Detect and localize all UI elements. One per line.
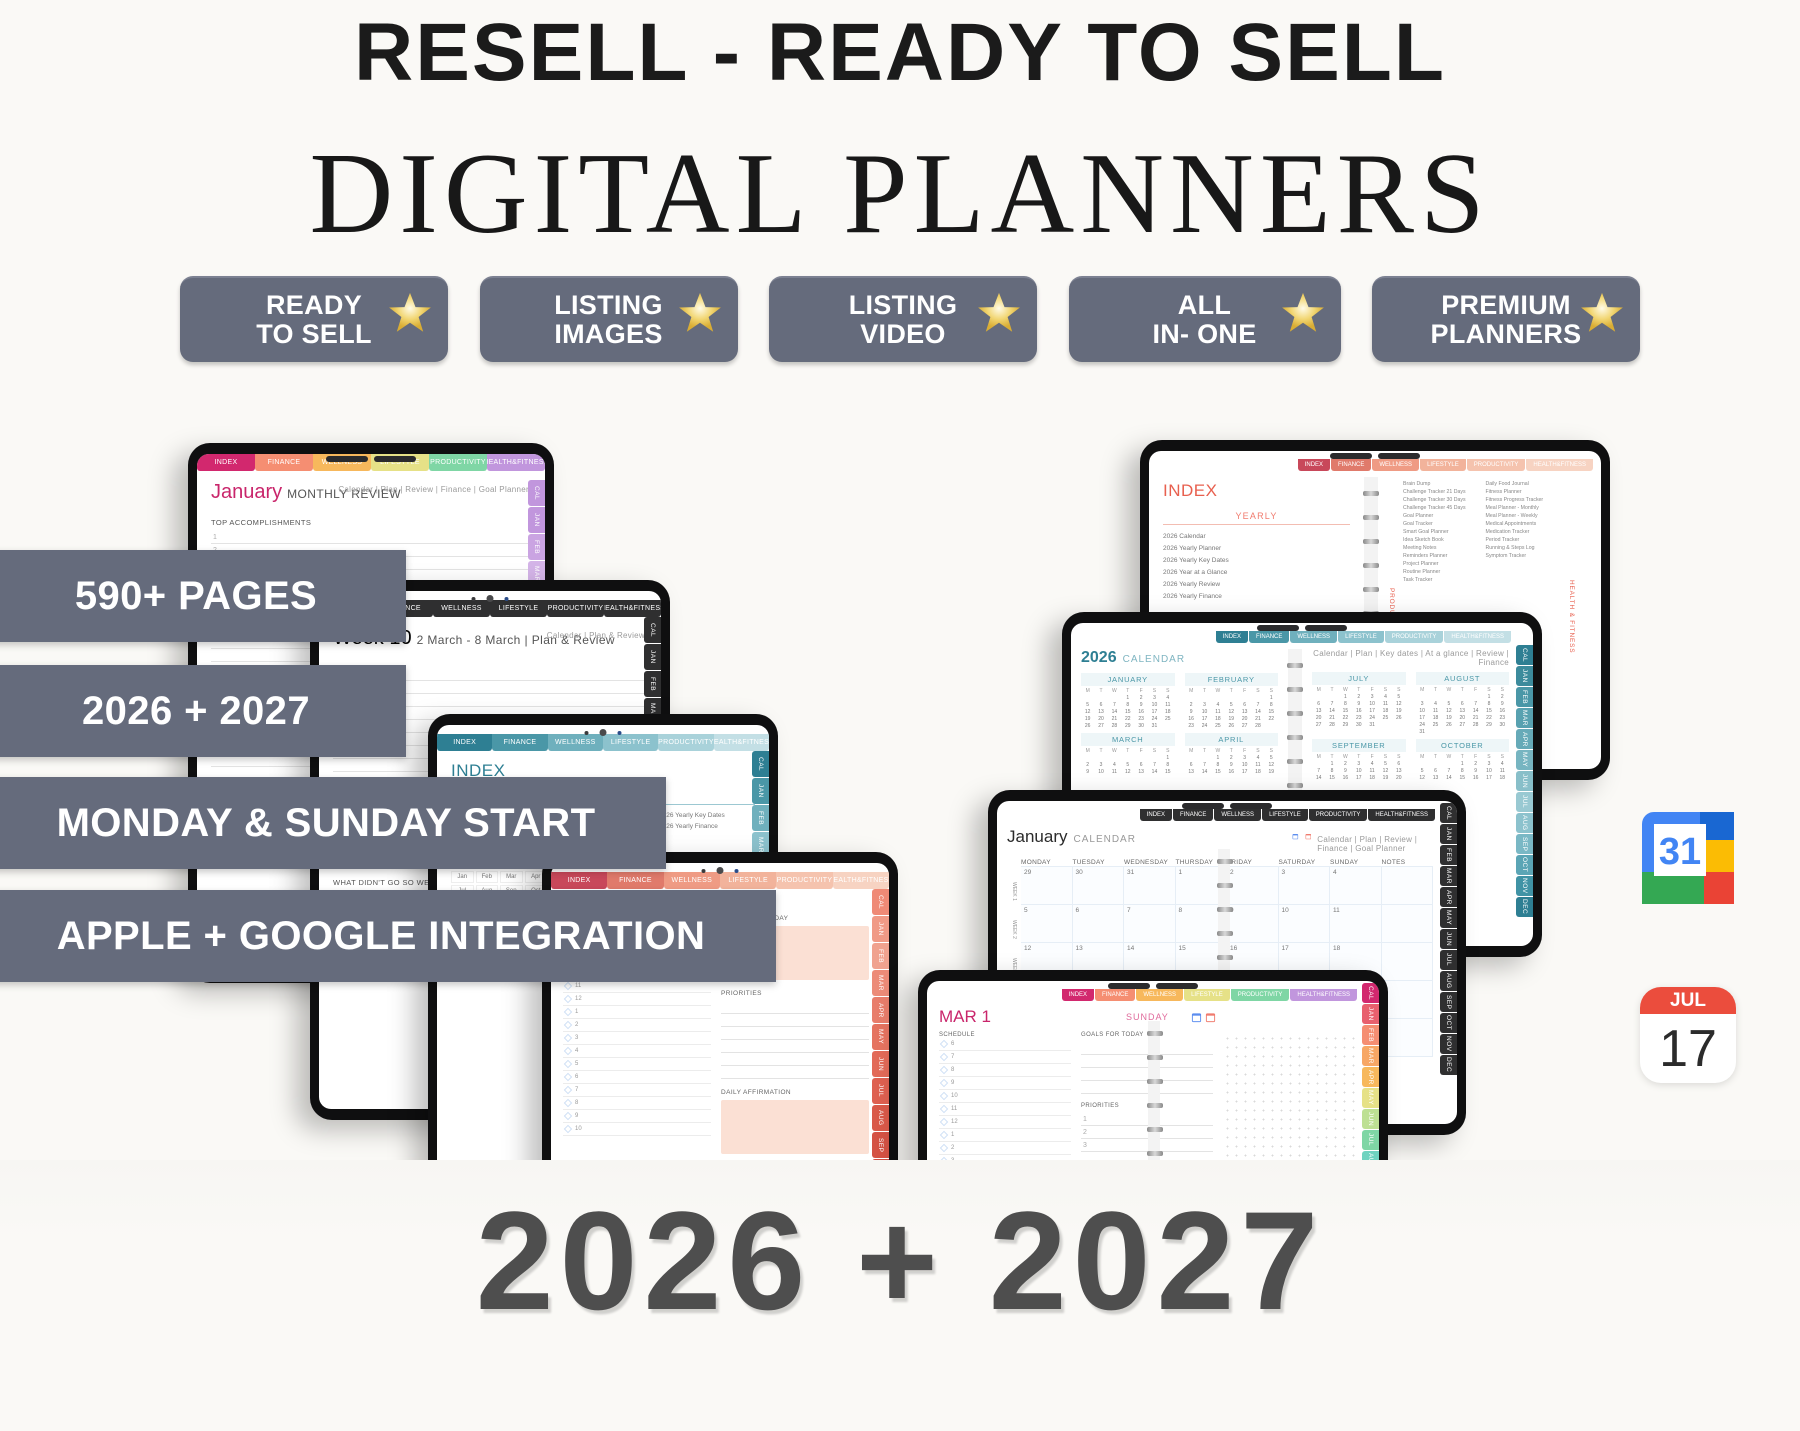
list-item[interactable] [1081,1042,1213,1055]
schedule-row[interactable]: 6 [563,1071,711,1084]
camera-notch [1182,803,1272,809]
index-link[interactable]: 2026 Year at a Glance [1163,569,1350,576]
side-tab-jan[interactable]: JAN [1516,666,1533,686]
index-link[interactable]: Smart Goal Planner [1403,529,1478,535]
divider [1163,524,1350,525]
side-tab-may[interactable]: MAY [872,1024,889,1050]
tab-productivity[interactable]: PRODUCTIVITY [658,734,713,751]
side-tab-feb[interactable]: FEB [752,805,769,831]
notes-cell[interactable] [1382,981,1434,1019]
page-nav[interactable]: Calendar | Plan & Review [547,631,645,640]
google-calendar-glyph: 31 [1640,810,1736,906]
index-link[interactable]: 2026 Yearly Review [1163,581,1350,588]
google-calendar-icon[interactable]: 31 [1640,810,1736,906]
star-icon [388,291,432,335]
month-name: APRIL [1185,733,1279,746]
tab-index[interactable]: INDEX [1140,809,1172,821]
col-header: NOTES [1382,859,1434,866]
tab-index[interactable]: INDEX [551,872,607,889]
list-item[interactable]: 1 [1081,1113,1213,1126]
month-name: SEPTEMBER [1312,739,1406,752]
side-tab-mar[interactable]: MAR [1516,708,1533,728]
tab-finance[interactable]: FINANCE [255,454,313,471]
schedule-row[interactable]: 6 [939,1038,1071,1051]
tab-lifestyle[interactable]: LIFESTYLE [720,872,776,889]
feature-bar-label: 590+ PAGES [75,574,317,619]
tab-productivity[interactable]: PRODUCTIVITY [547,600,604,617]
side-tab-feb[interactable]: FEB [872,943,889,969]
index-link[interactable]: Challenge Tracker 45 Days [1403,505,1478,511]
camera-dots [585,729,622,736]
priorities-list[interactable]: 1 2 3 [1081,1113,1213,1152]
apple-calendar-day: 17 [1640,1014,1736,1083]
side-tab-jan[interactable]: JAN [752,778,769,804]
side-tab-jan[interactable]: JAN [644,644,661,670]
schedule-row[interactable]: 8 [563,1097,711,1110]
index-link[interactable]: 2026 Calendar [1163,533,1350,540]
tab-productivity[interactable]: PRODUCTIVITY [1385,631,1444,643]
day-cell[interactable]: 29 [1021,867,1073,905]
index-link[interactable]: Task Tracker [1403,577,1478,583]
apple-calendar-icon[interactable]: JUL 17 [1640,987,1736,1083]
day-cell[interactable]: 10 [1279,905,1331,943]
tab-productivity[interactable]: PRODUCTIVITY [1309,809,1368,821]
notes-cell[interactable] [1382,905,1434,943]
col-header: MONDAY [1021,859,1073,866]
year-month-block[interactable]: AUGUST MTWTFSS 1234567891011121314151617… [1416,672,1510,735]
badge-label: LISTING VIDEO [849,291,958,348]
camera-notch [326,456,416,462]
tab-wellness[interactable]: WELLNESS [1290,631,1337,643]
index-link[interactable]: Daily Food Journal [1486,481,1561,487]
schedule-row[interactable]: 1 [563,1006,711,1019]
schedule-row[interactable]: 7 [563,1084,711,1097]
index-link[interactable]: 2026 Yearly Finance [1163,593,1350,600]
tab-health-fitness[interactable]: HEALTH&FITNESS [1290,989,1357,1001]
side-tab-jul[interactable]: JUL [1362,1130,1379,1150]
side-tab-mar[interactable]: MAR [872,970,889,996]
month-chip[interactable]: Feb [476,871,499,883]
index-link[interactable]: Project Planner [1403,561,1478,567]
index-link[interactable]: Fitness Progress Tracker [1486,497,1561,503]
side-tab-cal[interactable]: CAL [752,751,769,777]
list-item[interactable]: 3 [1081,1139,1213,1152]
year-month-block[interactable]: OCTOBER MTWTFSS 123456789101112131415161… [1416,739,1510,781]
side-tab-jun[interactable]: JUN [1516,771,1533,791]
side-tab-jul[interactable]: JUL [1516,792,1533,812]
dow-row: MTWTFSS [1081,688,1175,694]
side-tab-jan[interactable]: JAN [528,507,545,533]
badge-ready-to-sell[interactable]: READY TO SELL [180,276,448,362]
col-header: FRIDAY [1227,859,1279,866]
tab-index[interactable]: INDEX [1062,989,1094,1001]
side-tab-cal[interactable]: CAL [1516,645,1533,665]
month-name: MARCH [1081,733,1175,746]
side-tab-mar[interactable]: MAR [1440,866,1457,886]
index-link[interactable]: Routine Planner [1403,569,1478,575]
month-name: OCTOBER [1416,739,1510,752]
schedule-row[interactable]: 4 [563,1045,711,1058]
star-icon [678,291,722,335]
badge-label: LISTING IMAGES [554,291,663,348]
tab-index[interactable]: INDEX [197,454,255,471]
month-side-tabs[interactable]: CAL JAN FEB MAR [752,751,769,858]
category-tabstrip[interactable]: INDEX FINANCE WELLNESS LIFESTYLE PRODUCT… [551,872,889,889]
dow-row: MTWTFSS [1416,687,1510,693]
apple-calendar-month: JUL [1640,987,1736,1014]
apple-calendar-mini-icon[interactable] [1205,1012,1216,1023]
days-grid[interactable]: 1234567891011121314151617181920212223242… [1081,695,1175,729]
side-tab-dec[interactable]: DEC [1440,1055,1457,1075]
dow-row: MTWTFSS [1185,748,1279,754]
side-tab-jun[interactable]: JUN [1362,1109,1379,1129]
feature-bar-week-start: MONDAY & SUNDAY START [0,777,666,869]
star-icon [1580,291,1624,335]
side-tab-sep[interactable]: SEP [1440,992,1457,1012]
schedule-row[interactable]: 8 [939,1064,1071,1077]
side-label-health: HEALTH & FITNESS [1568,580,1575,653]
side-tab-jun[interactable]: JUN [1440,929,1457,949]
year-month-grid[interactable]: JANUARY MTWTFSS 123456789101112131415161… [1081,673,1278,775]
feature-bar-integration: APPLE + GOOGLE INTEGRATION [0,890,776,982]
days-grid[interactable]: 123456789101112131415161718 [1416,761,1510,781]
side-tab-jan[interactable]: JAN [872,916,889,942]
tab-wellness[interactable]: WELLNESS [1372,459,1419,471]
badge-label: ALL IN- ONE [1152,291,1256,348]
page-subtitle: CALENDAR [1073,834,1135,845]
index-link[interactable]: Medication Tracker [1486,529,1561,535]
page-heading: 2026 CALENDAR [1081,649,1278,667]
tab-productivity[interactable]: PRODUCTIVITY [1467,459,1526,471]
side-tab-apr[interactable]: APR [1362,1067,1379,1087]
index-yearly-list[interactable]: 2026 Calendar 2026 Yearly Planner 2026 Y… [1163,533,1350,600]
tab-wellness[interactable]: WELLNESS [1136,989,1183,1001]
tab-lifestyle[interactable]: LIFESTYLE [1262,809,1308,821]
index-link[interactable]: Meeting Notes [1403,545,1478,551]
week-label: WEEK 1 [1007,872,1021,910]
side-tab-may[interactable]: MAY [1362,1088,1379,1108]
section-label-affirmation: DAILY AFFIRMATION [721,1089,869,1096]
schedule-row[interactable]: 5 [563,1058,711,1071]
month-title: January [211,481,282,503]
col-header: SATURDAY [1279,859,1331,866]
index-link[interactable]: Symptom Tracker [1486,553,1561,559]
page-nav[interactable]: Calendar | Plan | Key dates | At a glanc… [1312,649,1509,667]
year-month-grid[interactable]: JULY MTWTFSS 123456789101112131415161718… [1312,672,1509,781]
tab-health-fitness[interactable]: HEALTH&FITNESS [1444,631,1511,643]
side-tab-apr[interactable]: APR [1516,729,1533,749]
side-tab-may[interactable]: MAY [1516,750,1533,770]
side-tab-sep[interactable]: SEP [1516,834,1533,854]
section-label-accomplishments: TOP ACCOMPLISHMENTS [211,518,531,527]
day-cell[interactable]: 30 [1073,867,1125,905]
badge-listing-video[interactable]: LISTING VIDEO [769,276,1037,362]
badge-all-in-one[interactable]: ALL IN- ONE [1069,276,1341,362]
list-item[interactable] [721,1040,869,1053]
side-tab-cal[interactable]: CAL [872,889,889,915]
day-cell[interactable]: 6 [1073,905,1125,943]
badge-label: READY TO SELL [256,291,372,348]
index-link[interactable]: Goal Tracker [1403,521,1478,527]
badge-listing-images[interactable]: LISTING IMAGES [480,276,738,362]
month-side-tabs[interactable]: CAL JAN FEB MAR [528,480,545,587]
year-month-block[interactable]: SEPTEMBER MTWTFSS 1234567891011121314151… [1312,739,1406,781]
page-subtitle: CALENDAR [1123,654,1185,665]
feature-bar-pages: 590+ PAGES [0,550,406,642]
camera-notch [1257,625,1347,631]
goals-list[interactable] [1081,1042,1213,1094]
schedule-row[interactable]: 9 [939,1077,1071,1090]
month-name: JULY [1312,672,1406,685]
feature-bar-years: 2026 + 2027 [0,665,406,757]
tab-lifestyle[interactable]: LIFESTYLE [1184,989,1230,1001]
days-grid[interactable]: 12345678910111213141516171819 [1185,755,1279,775]
year-month-block[interactable]: JULY MTWTFSS 123456789101112131415161718… [1312,672,1406,735]
month-title: January [1007,827,1067,847]
index-link[interactable]: 2026 Yearly Key Dates [1163,557,1350,564]
schedule-row[interactable]: 2 [563,1019,711,1032]
days-grid[interactable]: 123456789101112131415 [1081,755,1175,775]
affirmation-input-box[interactable] [721,1100,869,1154]
index-link[interactable]: Goal Planner [1403,513,1478,519]
list-item[interactable] [721,1001,869,1014]
dow-row: MTWTFSS [1312,754,1406,760]
index-link[interactable]: Idea Sketch Book [1403,537,1478,543]
month-name: FEBRUARY [1185,673,1279,686]
tab-health-fitness[interactable]: HEALTH&FITNESS [1526,459,1593,471]
week-label: WEEK 2 [1007,910,1021,948]
category-tabstrip[interactable]: INDEX FINANCE WELLNESS LIFESTYLE PRODUCT… [437,734,769,751]
year-title: 2026 [1081,649,1117,667]
side-tab-jan[interactable]: JAN [1362,1004,1379,1024]
dow-row: MTWTFSS [1081,748,1175,754]
poster-canvas: RESELL - READY TO SELL DIGITAL PLANNERS … [0,0,1800,1431]
side-tab-aug[interactable]: AUG [1440,971,1457,991]
page-title-secondary: DIGITAL PLANNERS [0,128,1800,261]
month-name: AUGUST [1416,672,1510,685]
index-link[interactable]: 2026 Yearly Planner [1163,545,1350,552]
days-grid[interactable]: 1234567891011121314151617181920212223242… [1416,694,1510,735]
index-title: INDEX [1163,481,1350,501]
side-tab-aug[interactable]: AUG [872,1105,889,1131]
dow-row: MTWTFSS [1416,754,1510,760]
list-item[interactable] [721,1066,869,1079]
index-link[interactable]: Reminders Planner [1403,553,1478,559]
side-tab-jul[interactable]: JUL [872,1078,889,1104]
side-tab-nov[interactable]: NOV [1516,876,1533,896]
schedule-row[interactable]: 10 [563,1123,711,1136]
side-tab-feb[interactable]: FEB [1516,687,1533,707]
priorities-list[interactable] [721,1001,869,1079]
index-link[interactable]: Brain Dump [1403,481,1478,487]
month-side-tabs[interactable]: CAL JAN FEB MAR APR MAY JUN JUL AUG SEP … [1440,803,1457,1075]
side-tab-jan[interactable]: JAN [1440,824,1457,844]
side-tab-feb[interactable]: FEB [644,671,661,697]
tab-finance[interactable]: FINANCE [1331,459,1371,471]
col-header: WEDNESDAY [1124,859,1176,866]
side-tab-nov[interactable]: NOV [1440,1034,1457,1054]
tab-health-fitness[interactable]: HEALTH&FITNESS [714,734,769,751]
star-icon [1281,291,1325,335]
notes-cell[interactable] [1382,943,1434,981]
camera-notch [1108,983,1198,989]
apple-calendar-mini-icon[interactable] [1305,831,1312,842]
index-link[interactable]: Meal Planner - Weekly [1486,513,1561,519]
col-header: TUESDAY [1073,859,1125,866]
side-tab-aug[interactable]: AUG [1516,813,1533,833]
day-label: SUNDAY [1126,1012,1169,1022]
tab-lifestyle[interactable]: LIFESTYLE [603,734,658,751]
tab-finance[interactable]: FINANCE [1249,631,1289,643]
tab-wellness[interactable]: WELLNESS [548,734,603,751]
side-tab-jul[interactable]: JUL [1440,950,1457,970]
day-cell[interactable]: 9 [1227,905,1279,943]
days-grid[interactable]: 1234567891011121314151617181920212223242… [1312,694,1406,728]
index-link[interactable]: Running & Steps Log [1486,545,1561,551]
month-chip[interactable]: Mar [500,871,523,883]
tab-health-fitness[interactable]: HEALTH&FITNESS [1368,809,1435,821]
camera-notch [1330,453,1420,459]
schedule-row[interactable]: 1 [939,1129,1071,1142]
month-side-tabs[interactable]: CAL JAN FEB MAR [644,617,661,724]
tab-health-fitness[interactable]: HEALTH&FITNESS [604,600,661,617]
year-month-block[interactable]: JANUARY MTWTFSS 123456789101112131415161… [1081,673,1175,729]
side-tab-apr[interactable]: APR [1440,887,1457,907]
tab-finance[interactable]: FINANCE [1095,989,1135,1001]
tab-index[interactable]: INDEX [1216,631,1248,643]
notes-cell[interactable] [1382,1019,1434,1057]
tab-index[interactable]: INDEX [437,734,492,751]
feature-bar-label: APPLE + GOOGLE INTEGRATION [57,914,706,959]
side-tab-feb[interactable]: FEB [528,534,545,560]
schedule-row[interactable]: 10 [939,1090,1071,1103]
month-name: JANUARY [1081,673,1175,686]
side-tab-sep[interactable]: SEP [872,1132,889,1158]
tab-finance[interactable]: FINANCE [492,734,547,751]
tab-lifestyle[interactable]: LIFESTYLE [490,600,547,617]
tab-wellness[interactable]: WELLNESS [433,600,490,617]
badge-row: READY TO SELL LISTING IMAGES LISTING VID… [180,276,1640,362]
svg-text:31: 31 [1659,831,1701,873]
schedule-row[interactable]: 7 [939,1051,1071,1064]
year-month-block[interactable]: APRIL MTWTFSS 12345678910111213141516171… [1185,733,1279,775]
section-label-yearly: YEARLY [1163,511,1350,521]
list-item[interactable] [721,1053,869,1066]
schedule-row[interactable]: 11 [939,1103,1071,1116]
day-cell[interactable]: 7 [1124,905,1176,943]
days-grid[interactable]: 1234567891011121314151617181920 [1312,761,1406,781]
notes-cell[interactable] [1382,867,1434,905]
tab-finance[interactable]: FINANCE [1173,809,1213,821]
day-cell[interactable]: 11 [1330,905,1382,943]
tab-health-fitness[interactable]: HEALTH&FITNESS [487,454,545,471]
schedule-row[interactable]: 12 [563,993,711,1006]
year-month-block[interactable]: MARCH MTWTFSS 123456789101112131415 [1081,733,1175,775]
schedule-row[interactable]: 9 [563,1110,711,1123]
index-link[interactable]: Challenge Tracker 21 Days [1403,489,1478,495]
day-cell[interactable]: 3 [1279,867,1331,905]
month-chip[interactable]: Jan [451,871,474,883]
days-grid[interactable]: 1234567891011121314151617181920212223242… [1185,695,1279,729]
index-link[interactable]: Meal Planner - Monthly [1486,505,1561,511]
year-month-block[interactable]: FEBRUARY MTWTFSS 12345678910111213141516… [1185,673,1279,729]
tab-finance[interactable]: FINANCE [607,872,663,889]
col-header: SUNDAY [1330,859,1382,866]
side-tab-apr[interactable]: APR [872,997,889,1023]
feature-bar-label: MONDAY & SUNDAY START [57,801,596,846]
camera-dots [702,867,739,874]
list-item[interactable]: 1 [211,531,531,544]
badge-premium-planners[interactable]: PREMIUM PLANNERS [1372,276,1640,362]
list-item[interactable] [721,1027,869,1040]
side-tab-cal[interactable]: CAL [1362,983,1379,1003]
camera-dots [472,595,509,602]
section-label-priorities: PRIORITIES [721,990,869,997]
tab-wellness[interactable]: WELLNESS [664,872,720,889]
schedule-row[interactable]: 12 [939,1116,1071,1129]
google-calendar-mini-icon[interactable] [1191,1012,1202,1023]
list-item[interactable] [721,1014,869,1027]
tab-productivity[interactable]: PRODUCTIVITY [1231,989,1290,1001]
page-heading: MAR 1 SUNDAY [939,1007,1355,1027]
page-nav[interactable]: Calendar | Plan | Review | Finance | Goa… [1317,835,1433,853]
side-tab-oct[interactable]: OCT [1516,855,1533,875]
star-icon [977,291,1021,335]
page-nav[interactable]: Calendar | Plan | Review | Finance | Goa… [338,485,529,494]
feature-bar-label: 2026 + 2027 [82,689,310,734]
index-link[interactable]: Period Tracker [1486,537,1561,543]
side-tab-cal[interactable]: CAL [528,480,545,506]
side-tab-dec[interactable]: DEC [1516,897,1533,917]
day-cell[interactable]: 4 [1330,867,1382,905]
tab-wellness[interactable]: WELLNESS [1214,809,1261,821]
tab-lifestyle[interactable]: LIFESTYLE [1420,459,1466,471]
index-link[interactable]: Medical Appointments [1486,521,1561,527]
schedule-row[interactable]: 2 [939,1142,1071,1155]
index-link[interactable]: 2026 Yearly Finance [659,823,755,830]
side-tab-feb[interactable]: FEB [1440,845,1457,865]
day-cell[interactable]: 2 [1227,867,1279,905]
google-calendar-mini-icon[interactable] [1292,831,1299,842]
side-tab-jun[interactable]: JUN [872,1051,889,1077]
side-tab-cal[interactable]: CAL [1440,803,1457,823]
side-tab-cal[interactable]: CAL [644,617,661,643]
index-link[interactable]: Fitness Planner [1486,489,1561,495]
day-cell[interactable]: 5 [1021,905,1073,943]
dow-row: MTWTFSS [1185,688,1279,694]
page-title-primary: RESELL - READY TO SELL [0,6,1800,100]
month-side-tabs[interactable]: CAL JAN FEB MAR APR MAY JUN JUL AUG SEP … [1516,645,1533,917]
index-link[interactable]: Challenge Tracker 30 Days [1403,497,1478,503]
footer-years: 2026 + 2027 [0,1180,1800,1342]
schedule-row[interactable]: 3 [563,1032,711,1045]
day-title: MAR 1 [939,1007,991,1027]
tab-health-fitness[interactable]: HEALTH&FITNESS [833,872,889,889]
tab-productivity[interactable]: PRODUCTIVITY [776,872,832,889]
side-tab-mar[interactable]: MAR [1362,1046,1379,1066]
day-cell[interactable]: 31 [1124,867,1176,905]
dow-row: MTWTFSS [1312,687,1406,693]
tab-lifestyle[interactable]: LIFESTYLE [1338,631,1384,643]
tab-productivity[interactable]: PRODUCTIVITY [429,454,487,471]
badge-label: PREMIUM PLANNERS [1431,291,1582,348]
side-tab-oct[interactable]: OCT [1440,1013,1457,1033]
tab-index[interactable]: INDEX [1298,459,1330,471]
index-link[interactable]: 2026 Yearly Key Dates [659,812,755,819]
side-tab-feb[interactable]: FEB [1362,1025,1379,1045]
side-tab-may[interactable]: MAY [1440,908,1457,928]
